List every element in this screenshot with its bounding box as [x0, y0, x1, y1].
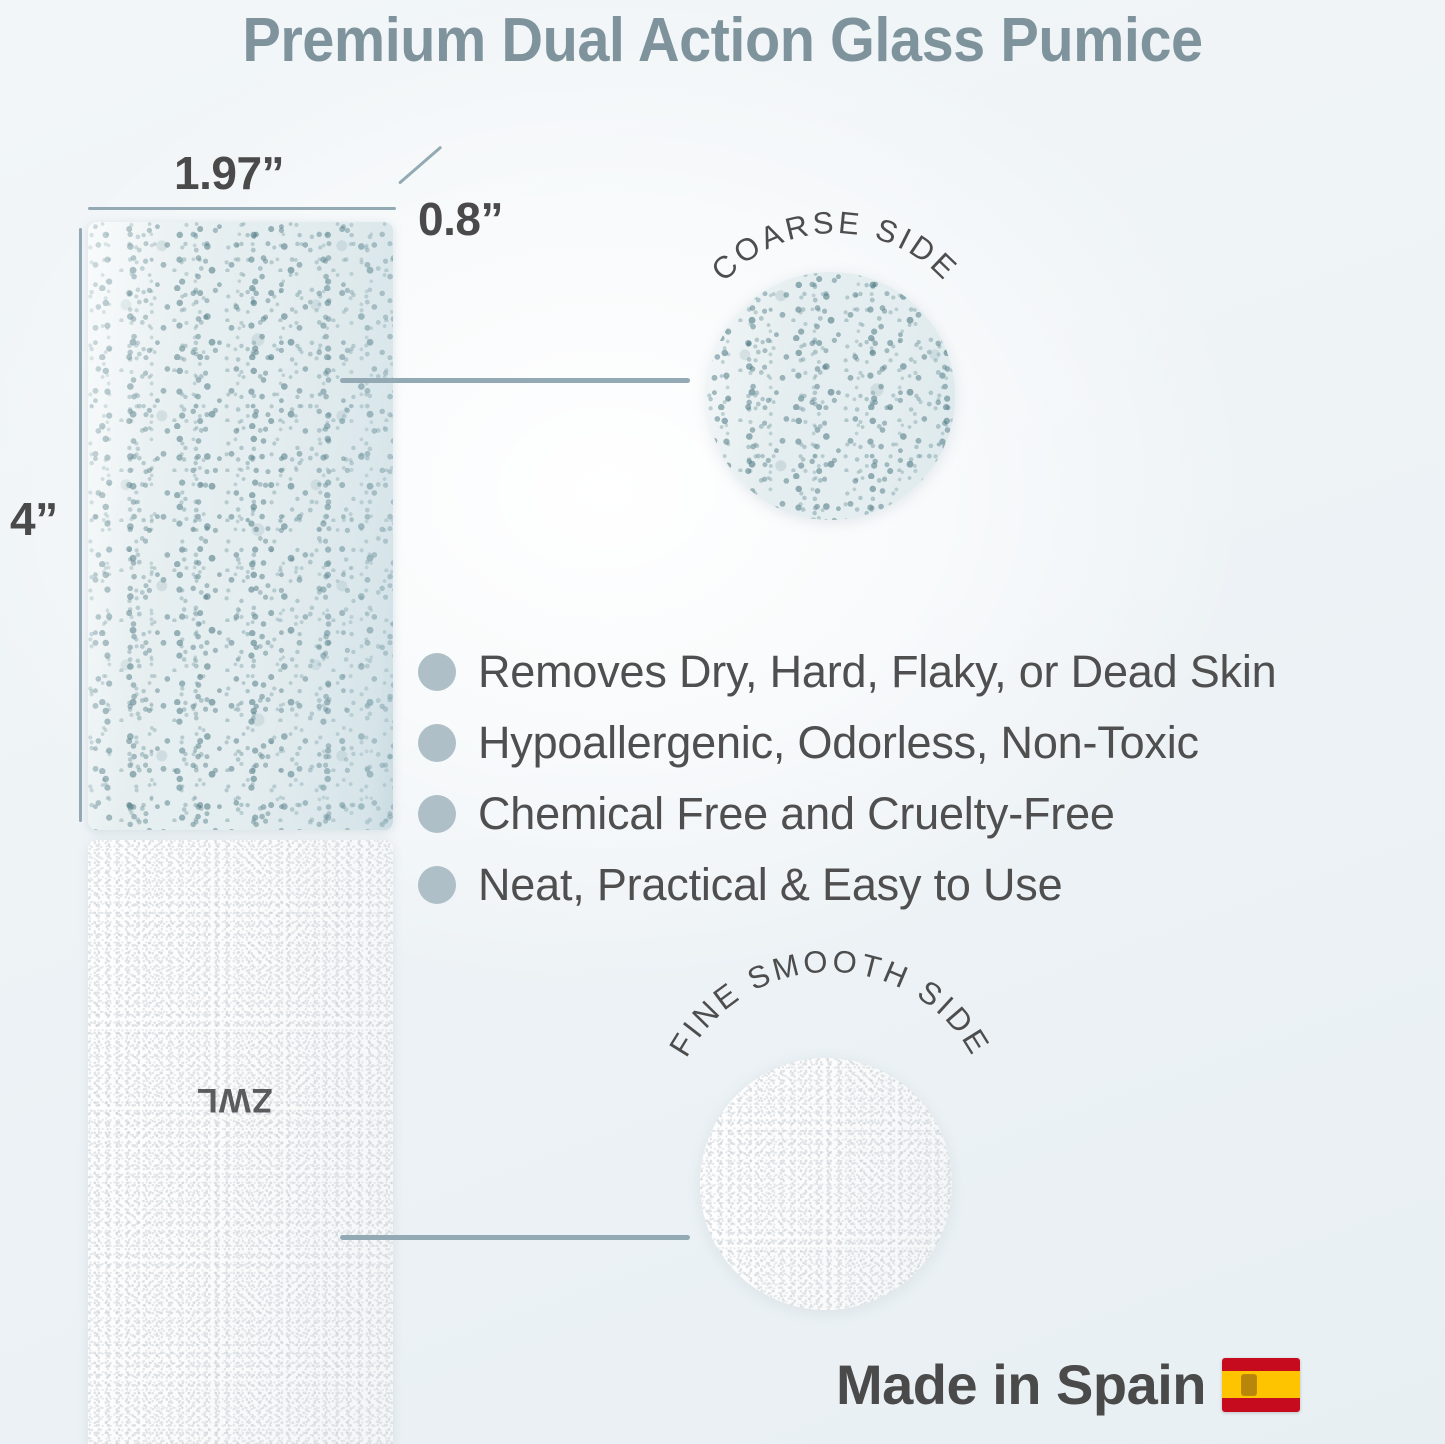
infographic-canvas: Premium Dual Action Glass Pumice 1.97” 0… — [0, 0, 1445, 1444]
bullet-icon — [418, 795, 456, 833]
origin-label: Made in Spain — [836, 1352, 1206, 1417]
flag-crest — [1242, 1375, 1255, 1394]
feature-item: Neat, Practical & Easy to Use — [418, 849, 1298, 920]
fine-smooth-side-caption-text: FINE SMOOTH SIDE — [662, 943, 997, 1062]
flag-stripe-middle — [1222, 1371, 1300, 1398]
flag-stripe-top — [1222, 1358, 1300, 1372]
feature-list: Removes Dry, Hard, Flaky, or Dead Skin H… — [418, 636, 1298, 920]
coarse-side-caption: COARSE SIDE — [680, 240, 990, 370]
fine-leader-line — [340, 1235, 690, 1240]
feature-label: Neat, Practical & Easy to Use — [478, 860, 1062, 910]
width-dimension-line — [88, 207, 396, 210]
bullet-icon — [418, 653, 456, 691]
depth-dimension-line — [398, 146, 442, 185]
coarse-pumice-block — [88, 222, 393, 830]
depth-dimension-label: 0.8” — [418, 192, 503, 246]
feature-label: Chemical Free and Cruelty-Free — [478, 789, 1115, 839]
feature-item: Chemical Free and Cruelty-Free — [418, 778, 1298, 849]
page-title: Premium Dual Action Glass Pumice — [51, 4, 1395, 78]
fine-texture — [88, 840, 393, 1444]
flag-stripe-bottom — [1222, 1398, 1300, 1412]
fine-pumice-block — [88, 840, 393, 1444]
brand-stamp: ZWL — [196, 1085, 273, 1115]
origin-badge: Made in Spain — [836, 1352, 1300, 1417]
feature-label: Removes Dry, Hard, Flaky, or Dead Skin — [478, 647, 1276, 697]
coarse-leader-line — [340, 378, 690, 383]
bullet-icon — [418, 724, 456, 762]
feature-item: Hypoallergenic, Odorless, Non-Toxic — [418, 707, 1298, 778]
block-highlight — [88, 222, 393, 830]
feature-label: Hypoallergenic, Odorless, Non-Toxic — [478, 718, 1199, 768]
spain-flag-icon — [1222, 1358, 1300, 1412]
fine-smooth-side-caption: FINE SMOOTH SIDE — [660, 1000, 1000, 1140]
bullet-icon — [418, 866, 456, 904]
width-dimension-label: 1.97” — [174, 146, 284, 200]
feature-item: Removes Dry, Hard, Flaky, or Dead Skin — [418, 636, 1298, 707]
height-dimension-label: 4” — [10, 492, 58, 546]
coarse-side-caption-text: COARSE SIDE — [704, 205, 965, 288]
height-dimension-line — [79, 228, 82, 822]
